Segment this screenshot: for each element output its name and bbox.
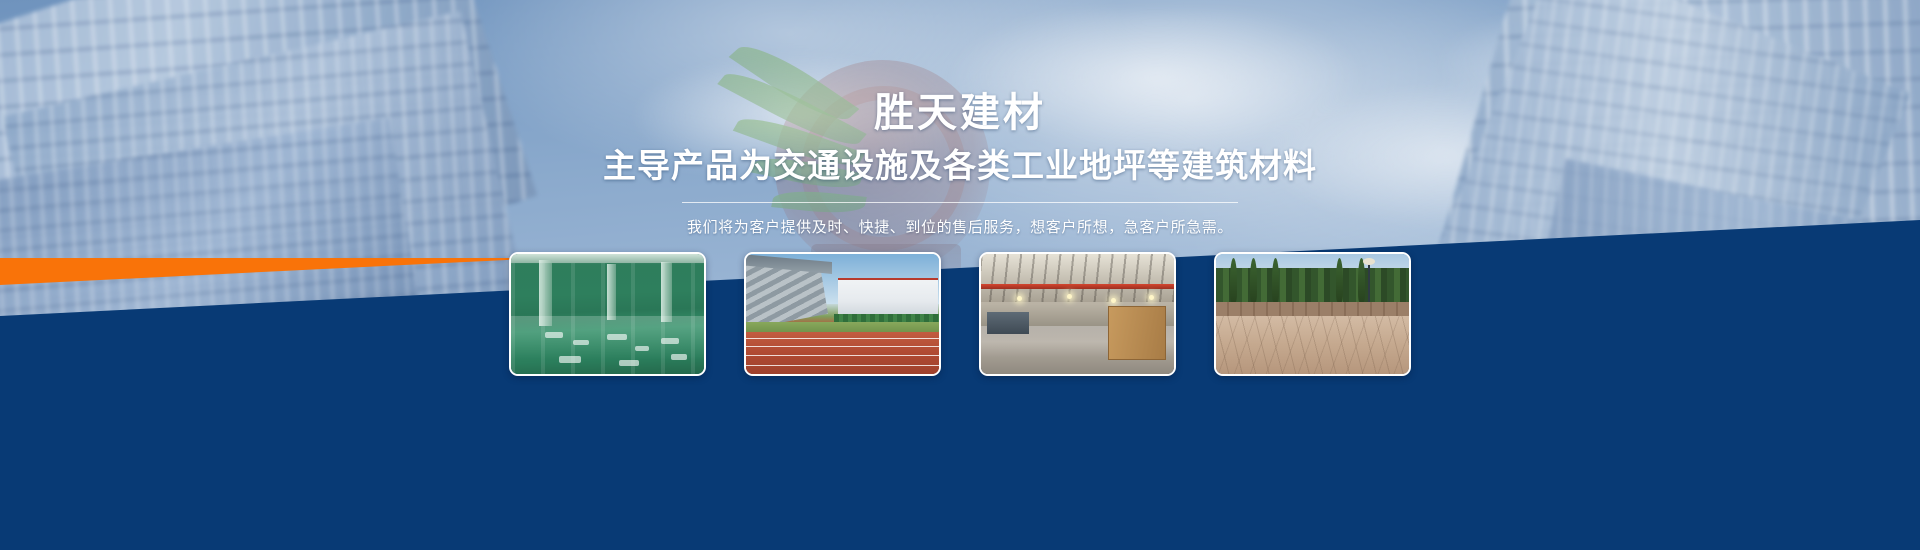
green-epoxy-floor-thumbnail[interactable] [509,252,706,376]
lane-line [746,365,939,366]
lane-line [746,374,939,375]
machinery [987,312,1029,334]
poplar-tree [1250,258,1257,302]
floor-reflection [559,356,581,363]
street-lamp-head [1363,258,1375,265]
pillar [607,264,616,320]
poplar-tree [1358,258,1365,302]
headline-block: 胜天建材 主导产品为交通设施及各类工业地坪等建筑材料 我们将为客户提供及时、快捷… [0,92,1920,237]
lane-line [746,338,939,339]
crane-beam [981,284,1174,289]
floor-reflection [661,338,679,344]
text-divider [682,202,1238,203]
warehouse-roof [981,254,1174,302]
poplar-tree [1336,258,1343,302]
floor-reflection [573,340,589,345]
outdoor-stamped-concrete-thumbnail[interactable] [1214,252,1411,376]
stamped-concrete-plaza [1216,316,1409,376]
ceiling-lamp [1067,294,1072,299]
wooden-crate [1108,306,1166,360]
floor-reflection [545,332,563,338]
banner-title: 胜天建材 [0,92,1920,135]
tree-line [1216,268,1409,302]
brick-wall [1216,302,1409,317]
floor-reflection [619,360,639,366]
ceiling-lamp [1017,296,1022,301]
thumbnail-strip [0,252,1920,376]
floor-gloss [511,316,704,376]
poplar-tree [1230,258,1237,302]
thumbnail-image [511,254,704,374]
banner-subtitle: 主导产品为交通设施及各类工业地坪等建筑材料 [0,147,1920,185]
floor-reflection [607,334,627,340]
thumbnail-image [981,254,1174,374]
promo-banner: 胜天建材 主导产品为交通设施及各类工业地坪等建筑材料 我们将为客户提供及时、快捷… [0,0,1920,550]
ceiling-lamp [1111,298,1116,303]
industrial-warehouse-floor-thumbnail[interactable] [979,252,1176,376]
lane-line [746,346,939,347]
thumbnail-image [1216,254,1409,374]
school-building [838,280,938,318]
thumbnail-image [746,254,939,374]
running-track-thumbnail[interactable] [744,252,941,376]
lane-line [746,355,939,356]
pillar [661,262,672,322]
poplar-tree [1272,258,1279,302]
banner-tagline: 我们将为客户提供及时、快捷、到位的售后服务，想客户所想，急客户所急需。 [0,216,1920,237]
floor-reflection [635,346,649,351]
ceiling-lamp [1149,295,1154,300]
floor-reflection [671,354,687,360]
